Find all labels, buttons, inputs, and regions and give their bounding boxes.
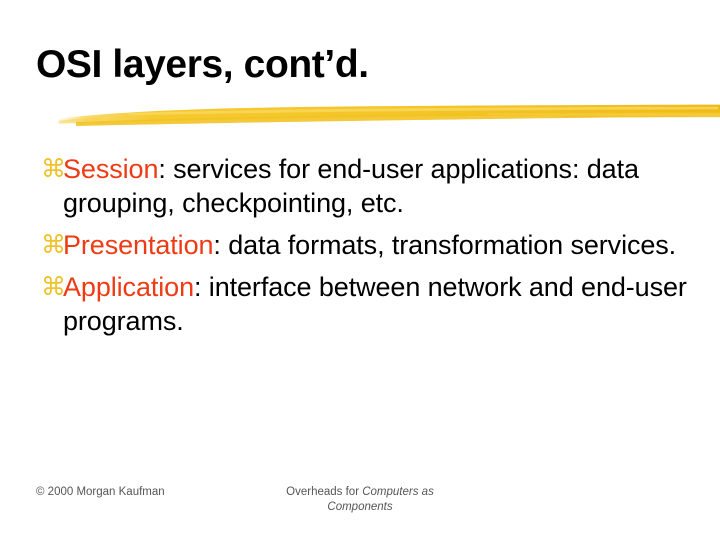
- page-title: OSI layers, cont’d.: [36, 44, 369, 86]
- bullet-list: ⌘ Session: services for end-user applica…: [41, 152, 691, 346]
- footer-copyright: © 2000 Morgan Kaufman: [36, 485, 196, 500]
- list-item-term: Presentation: [63, 230, 213, 260]
- slide-footer: © 2000 Morgan Kaufman Overheads for Comp…: [0, 485, 720, 535]
- list-item-text: Presentation: data formats, transformati…: [63, 228, 691, 262]
- command-bullet-icon: ⌘: [41, 152, 63, 186]
- list-item: ⌘ Presentation: data formats, transforma…: [41, 228, 691, 262]
- command-bullet-icon: ⌘: [41, 270, 63, 304]
- command-bullet-icon: ⌘: [41, 228, 63, 262]
- footer-source-prefix: Overheads for: [286, 486, 362, 498]
- list-item-description: : data formats, transformation services.: [213, 230, 676, 260]
- list-item-term: Session: [63, 154, 158, 184]
- list-item: ⌘ Session: services for end-user applica…: [41, 152, 691, 220]
- title-underline-brushstroke: [58, 102, 720, 136]
- list-item-text: Application: interface between network a…: [63, 270, 691, 338]
- list-item-text: Session: services for end-user applicati…: [63, 152, 691, 220]
- list-item: ⌘ Application: interface between network…: [41, 270, 691, 338]
- list-item-term: Application: [63, 272, 194, 302]
- slide-canvas: OSI layers, cont’d.: [0, 0, 720, 540]
- footer-source: Overheads for Computers as Components: [252, 485, 468, 515]
